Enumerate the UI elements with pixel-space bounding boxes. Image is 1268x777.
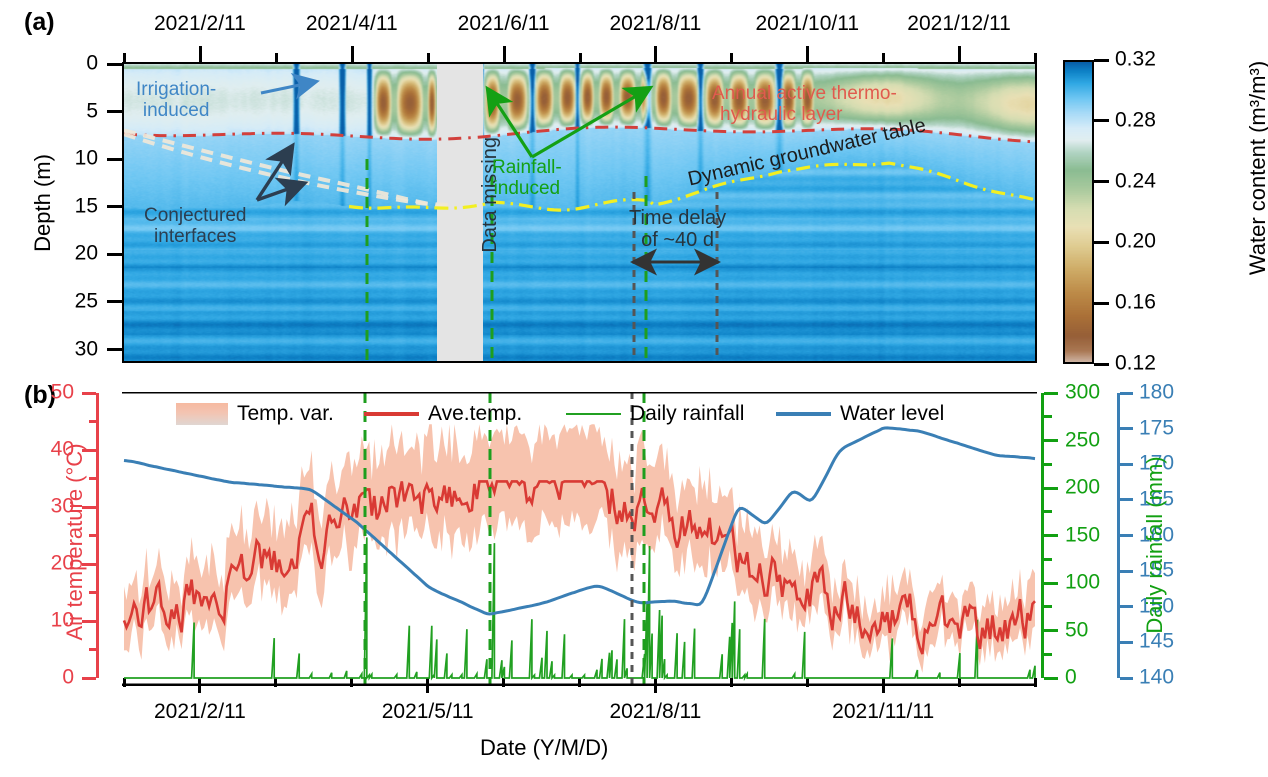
legend-item: Water level: [776, 402, 944, 426]
panel-b-xtick-label: 2021/2/11: [154, 700, 246, 724]
panel-b-ylabel-rainfall: Daily rainfall (mm): [1142, 430, 1168, 660]
x-axis-title: Date (Y/M/D): [480, 735, 608, 761]
panel-b-series: [122, 392, 1037, 686]
legend-label: Ave.temp.: [428, 402, 522, 426]
legend-label: Temp. var.: [237, 402, 334, 426]
panel-b-plot-area: [122, 392, 1037, 686]
legend-item: Temp. var.: [176, 402, 334, 426]
legend-item: Ave.temp.: [364, 402, 522, 426]
legend-label: Water level: [840, 402, 944, 426]
panel-b-xtick-label: 2021/11/11: [832, 700, 934, 724]
legend-swatch-line: [776, 412, 831, 416]
panel-b-xtick-label: 2021/5/11: [382, 700, 474, 724]
legend-item: Daily rainfall: [566, 402, 744, 426]
legend-label: Daily rainfall: [630, 402, 744, 426]
legend-swatch-line: [364, 412, 419, 416]
figure-root: (a) 2021/2/112021/4/112021/6/112021/8/11…: [0, 0, 1268, 777]
legend-swatch-band: [176, 403, 228, 425]
legend-swatch-line: [566, 413, 621, 415]
panel-b-xtick-label: 2021/8/11: [609, 700, 701, 724]
